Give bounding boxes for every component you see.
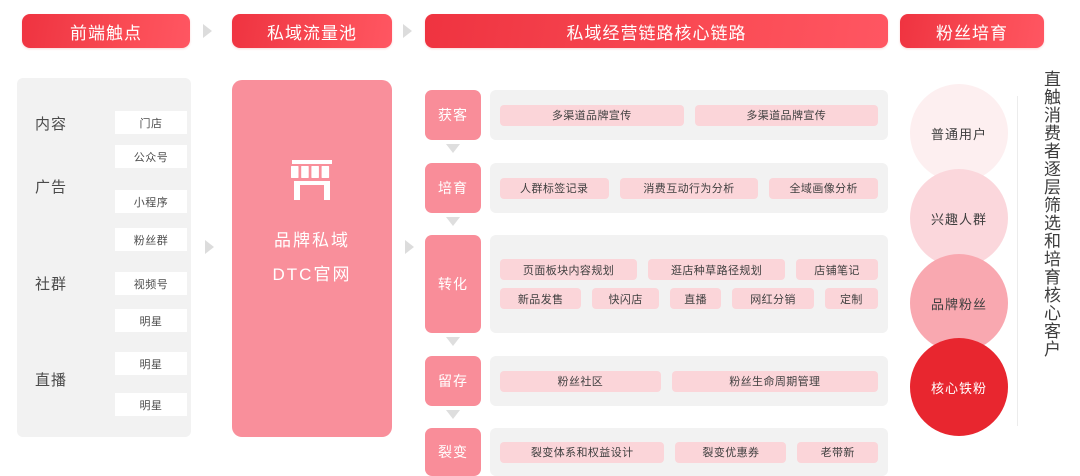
header-pill-1[interactable]: 前端触点 — [22, 14, 190, 48]
stage-chip-2[interactable]: 培育 — [425, 163, 481, 213]
tactic-tag[interactable]: 页面板块内容规划 — [500, 259, 637, 280]
infographic-canvas: 前端触点私域流量池私域经营链路核心链路粉丝培育 内容广告社群直播门店公众号小程序… — [0, 0, 1080, 464]
private-traffic-pool-card: 品牌私域 DTC官网 — [232, 80, 392, 437]
touchpoint-chip[interactable]: 粉丝群 — [115, 228, 187, 251]
touchpoint-chip[interactable]: 门店 — [115, 111, 187, 134]
stage-chip-1[interactable]: 获客 — [425, 90, 481, 140]
flow-arrow-to-pool — [205, 240, 214, 254]
fan-cultivation-funnel: 普通用户兴趣人群品牌粉丝核心铁粉 — [910, 84, 1012, 436]
touchpoint-chip[interactable]: 明星 — [115, 393, 187, 416]
touchpoint-chip[interactable]: 明星 — [115, 309, 187, 332]
brand-private-domain-line: 品牌私域 — [273, 224, 352, 258]
stage-body-3: 页面板块内容规划逛店种草路径规划店铺笔记新品发售快闪店直播网红分销定制 — [490, 235, 888, 333]
tactic-tag[interactable]: 网红分销 — [732, 288, 813, 309]
fan-tier-circle-4[interactable]: 核心铁粉 — [910, 338, 1008, 436]
header-arrow-2 — [403, 24, 412, 38]
stage-down-arrow — [446, 410, 460, 419]
stage-body-2: 人群标签记录消费互动行为分析全域画像分析 — [490, 163, 888, 213]
tactic-tag[interactable]: 粉丝生命周期管理 — [672, 371, 878, 392]
stage-body-5: 裂变体系和权益设计裂变优惠券老带新 — [490, 428, 888, 476]
touchpoint-category-4: 直播 — [35, 369, 67, 390]
tactic-tag[interactable]: 快闪店 — [592, 288, 658, 309]
header-arrow-1 — [203, 24, 212, 38]
stage-chip-4[interactable]: 留存 — [425, 356, 481, 406]
touchpoint-chip[interactable]: 视频号 — [115, 272, 187, 295]
fan-tier-circle-1[interactable]: 普通用户 — [910, 84, 1008, 182]
core-operation-chain: 获客多渠道品牌宣传多渠道品牌宣传培育人群标签记录消费互动行为分析全域画像分析转化… — [425, 78, 888, 437]
header-pill-2[interactable]: 私域流量池 — [232, 14, 392, 48]
frontend-touchpoints-panel: 内容广告社群直播门店公众号小程序粉丝群视频号明星明星明星 — [17, 78, 191, 437]
stage-chip-3[interactable]: 转化 — [425, 235, 481, 333]
tag-row: 裂变体系和权益设计裂变优惠券老带新 — [500, 442, 878, 463]
stage-chip-5[interactable]: 裂变 — [425, 428, 481, 476]
stage-down-arrow — [446, 217, 460, 226]
storefront-icon — [288, 158, 336, 202]
touchpoint-chip[interactable]: 明星 — [115, 352, 187, 375]
private-traffic-pool-label: 品牌私域 DTC官网 — [273, 224, 352, 292]
tactic-tag[interactable]: 多渠道品牌宣传 — [695, 105, 879, 126]
fan-tier-circle-2[interactable]: 兴趣人群 — [910, 169, 1008, 267]
header-pill-3[interactable]: 私域经营链路核心链路 — [425, 14, 888, 48]
tactic-tag[interactable]: 裂变优惠券 — [675, 442, 786, 463]
touchpoint-category-3: 社群 — [35, 273, 67, 294]
tactic-tag[interactable]: 新品发售 — [500, 288, 581, 309]
tactic-tag[interactable]: 消费互动行为分析 — [620, 178, 759, 199]
vertical-caption: 直触消费者逐层筛选和培育核心客户 — [1034, 70, 1062, 450]
tactic-tag[interactable]: 粉丝社区 — [500, 371, 661, 392]
stage-down-arrow — [446, 337, 460, 346]
tactic-tag[interactable]: 逛店种草路径规划 — [648, 259, 785, 280]
tag-row: 粉丝社区粉丝生命周期管理 — [500, 371, 878, 392]
tactic-tag[interactable]: 店铺笔记 — [796, 259, 878, 280]
touchpoint-category-1: 内容 — [35, 113, 67, 134]
vertical-divider — [1017, 96, 1018, 426]
stage-down-arrow — [446, 144, 460, 153]
tag-row: 人群标签记录消费互动行为分析全域画像分析 — [500, 178, 878, 199]
tactic-tag[interactable]: 人群标签记录 — [500, 178, 609, 199]
header-pill-4[interactable]: 粉丝培育 — [900, 14, 1044, 48]
stage-body-4: 粉丝社区粉丝生命周期管理 — [490, 356, 888, 406]
tactic-tag[interactable]: 全域画像分析 — [769, 178, 878, 199]
tag-row: 新品发售快闪店直播网红分销定制 — [500, 288, 878, 309]
tag-row: 页面板块内容规划逛店种草路径规划店铺笔记 — [500, 259, 878, 280]
tactic-tag[interactable]: 老带新 — [797, 442, 878, 463]
touchpoint-chip[interactable]: 小程序 — [115, 190, 187, 213]
tag-row: 多渠道品牌宣传多渠道品牌宣传 — [500, 105, 878, 126]
tactic-tag[interactable]: 裂变体系和权益设计 — [500, 442, 664, 463]
touchpoint-category-2: 广告 — [35, 176, 67, 197]
dtc-site-line: DTC官网 — [273, 258, 352, 292]
tactic-tag[interactable]: 直播 — [670, 288, 721, 309]
stage-body-1: 多渠道品牌宣传多渠道品牌宣传 — [490, 90, 888, 140]
tactic-tag[interactable]: 定制 — [825, 288, 878, 309]
touchpoint-chip[interactable]: 公众号 — [115, 145, 187, 168]
tactic-tag[interactable]: 多渠道品牌宣传 — [500, 105, 684, 126]
flow-arrow-to-center — [405, 240, 414, 254]
